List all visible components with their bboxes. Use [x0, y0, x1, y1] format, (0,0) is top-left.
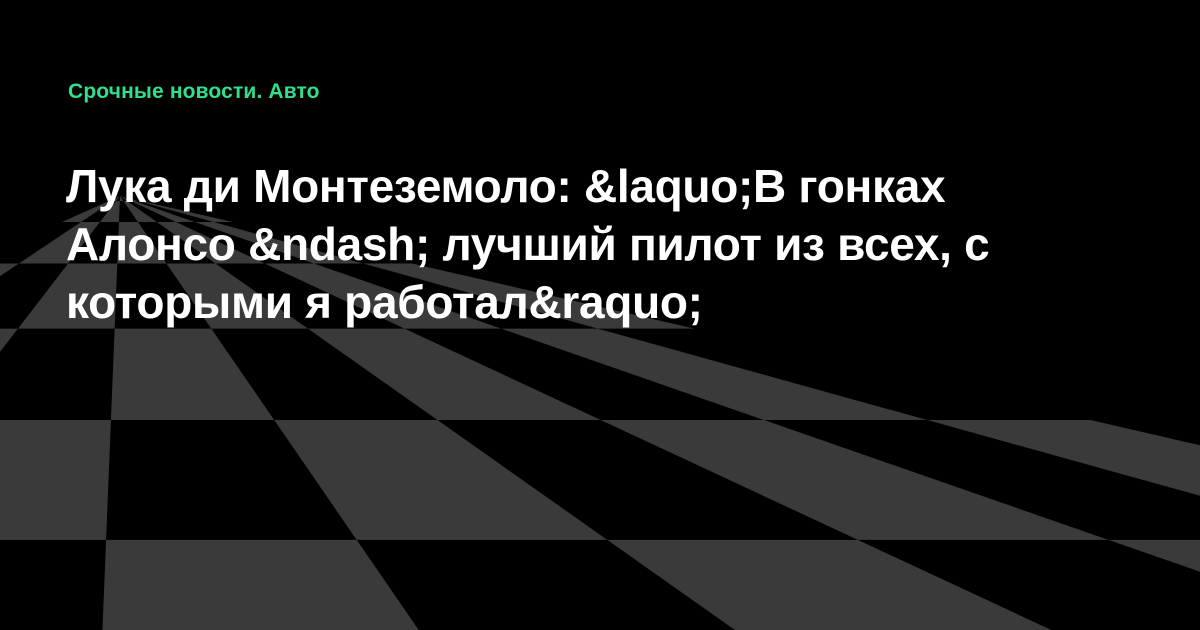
kicker-label: Срочные новости. Авто — [68, 79, 320, 105]
checker-tile — [0, 329, 18, 420]
checker-tile — [601, 420, 1109, 540]
checker-tile — [308, 329, 601, 420]
page-title: Лука ди Монтеземоло: &laquo;В гонках Ало… — [66, 157, 1106, 331]
checker-tile — [1108, 540, 1200, 630]
news-preview-card: Срочные новости. Авто Лука ди Монтеземол… — [0, 0, 1200, 630]
checker-tile — [607, 540, 1180, 630]
headline-line-3: которыми я работал&raquo; — [66, 273, 1106, 331]
checker-tile — [927, 420, 1200, 540]
checker-tile — [100, 540, 460, 630]
checker-tile — [111, 329, 274, 420]
checker-tile — [501, 329, 927, 420]
checker-tile — [0, 263, 19, 328]
headline-line-1: Лука ди Монтеземоло: &laquo;В гонках — [66, 157, 1106, 215]
checker-tile — [274, 420, 607, 540]
headline-line-2: Алонсо &ndash; лучший пилот из всех, с — [66, 215, 1106, 273]
checker-tile — [0, 420, 111, 540]
